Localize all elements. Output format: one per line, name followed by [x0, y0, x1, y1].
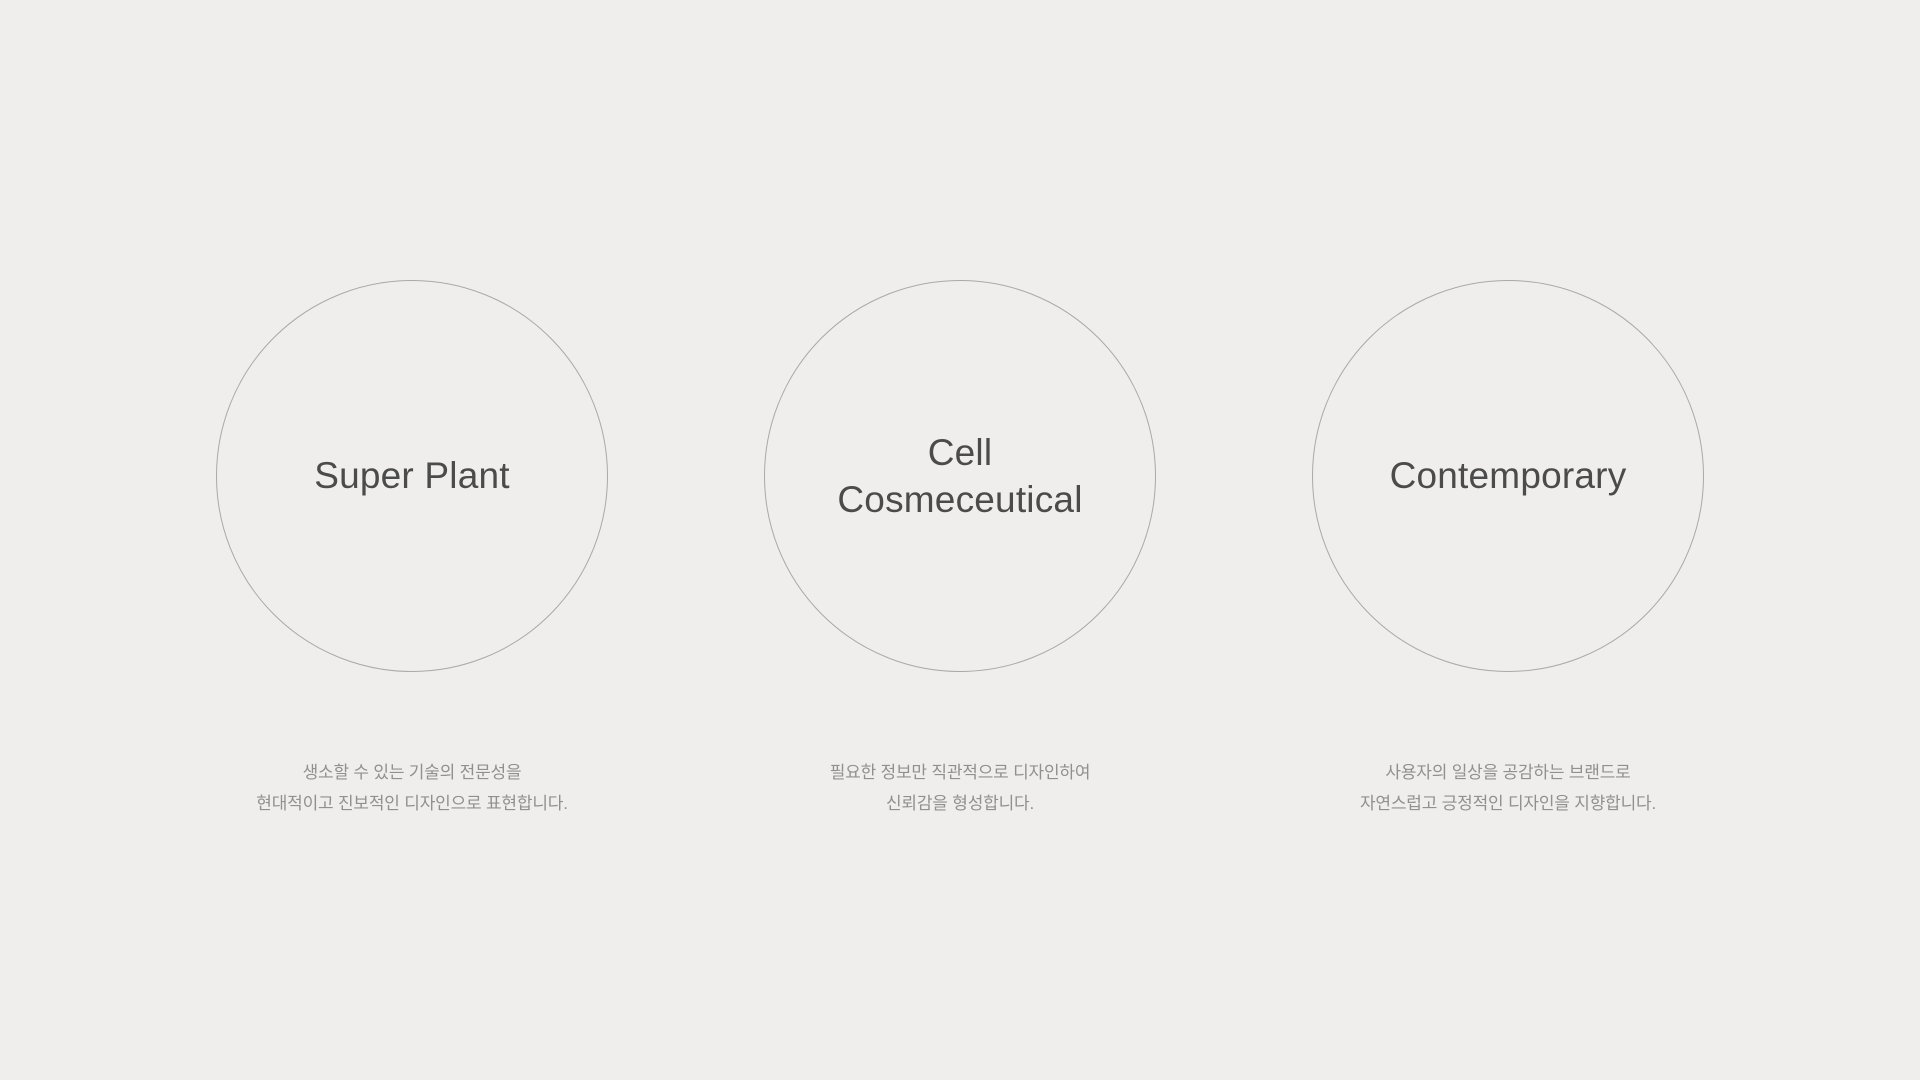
- concept-title-2: Cell Cosmeceutical: [813, 429, 1106, 524]
- concept-card-contemporary: Contemporary 사용자의 일상을 공감하는 브랜드로 자연스럽고 긍정…: [1234, 0, 1782, 1080]
- concept-card-super-plant: Super Plant 생소할 수 있는 기술의 전문성을 현대적이고 진보적인…: [138, 0, 686, 1080]
- concept-caption-3: 사용자의 일상을 공감하는 브랜드로 자연스럽고 긍정적인 디자인을 지향합니다…: [1360, 757, 1656, 820]
- concept-caption-2: 필요한 정보만 직관적으로 디자인하여 신뢰감을 형성합니다.: [830, 757, 1091, 820]
- concept-title-1: Super Plant: [290, 453, 534, 500]
- concept-card-cell-cosmeceutical: Cell Cosmeceutical 필요한 정보만 직관적으로 디자인하여 신…: [686, 0, 1234, 1080]
- page-canvas: Super Plant 생소할 수 있는 기술의 전문성을 현대적이고 진보적인…: [0, 0, 1920, 1080]
- concept-circle-3: Contemporary: [1312, 280, 1704, 672]
- concept-title-3: Contemporary: [1366, 453, 1651, 500]
- concept-list: Super Plant 생소할 수 있는 기술의 전문성을 현대적이고 진보적인…: [0, 0, 1920, 1080]
- concept-circle-2: Cell Cosmeceutical: [764, 280, 1156, 672]
- concept-circle-1: Super Plant: [216, 280, 608, 672]
- concept-caption-1: 생소할 수 있는 기술의 전문성을 현대적이고 진보적인 디자인으로 표현합니다…: [256, 757, 567, 820]
